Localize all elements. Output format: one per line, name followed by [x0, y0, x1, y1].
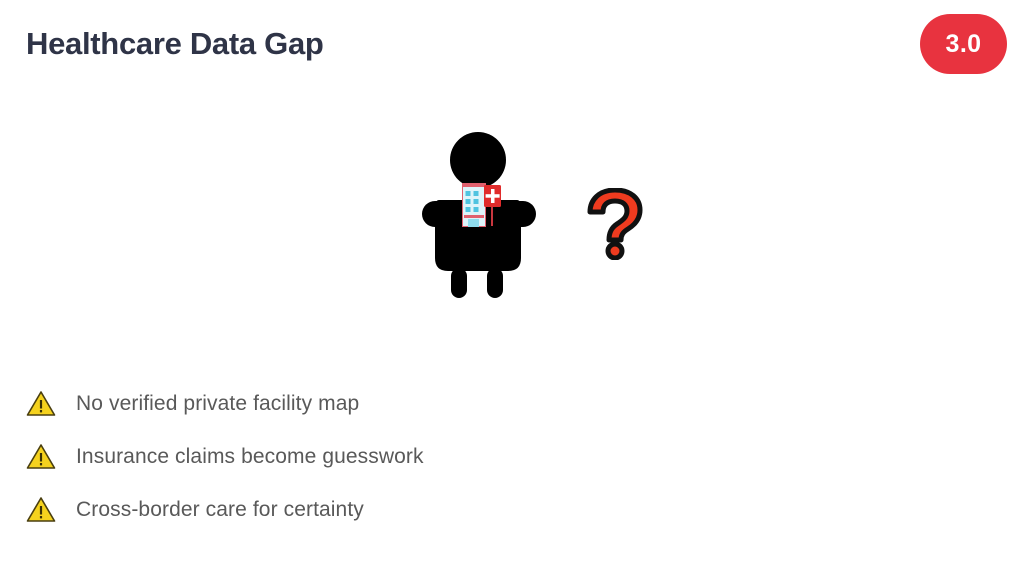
step-badge: 3.0	[920, 14, 1007, 74]
list-item: Insurance claims become guesswork	[26, 430, 586, 483]
slide-canvas: Healthcare Data Gap 3.0	[0, 0, 1024, 567]
warning-bullet-list: No verified private facility map Insuran…	[26, 377, 586, 536]
hospital-building-icon	[462, 183, 486, 227]
person-holding-hospital-icon	[420, 130, 540, 300]
step-badge-label: 3.0	[946, 32, 982, 57]
illustration-group	[420, 130, 680, 305]
warning-triangle-icon	[26, 390, 56, 417]
list-item: Cross-border care for certainty	[26, 483, 586, 536]
warning-triangle-icon	[26, 496, 56, 523]
page-title: Healthcare Data Gap	[26, 26, 324, 62]
list-item-label: Cross-border care for certainty	[76, 498, 364, 522]
warning-triangle-icon	[26, 443, 56, 470]
question-mark-icon	[585, 188, 645, 260]
list-item-label: Insurance claims become guesswork	[76, 445, 424, 469]
list-item-label: No verified private facility map	[76, 392, 359, 416]
list-item: No verified private facility map	[26, 377, 586, 430]
